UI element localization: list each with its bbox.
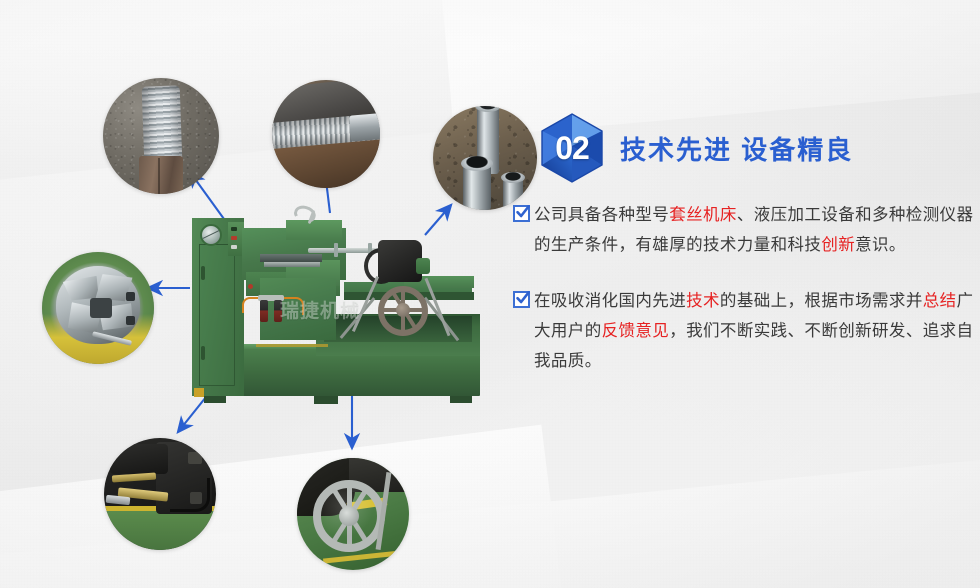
- image-watermark: 瑞捷机械: [280, 296, 388, 318]
- callout-handwheel-detail: [297, 458, 409, 570]
- promo-banner: 瑞捷机械: [0, 0, 980, 588]
- section-header: 02 技术先进 设备精良: [540, 113, 853, 183]
- bullet-text-2: 在吸收消化国内先进技术的基础上，根据市场需求并总结广大用户的反馈意见，我们不断实…: [534, 286, 975, 376]
- section-number-badge: 02: [540, 113, 604, 183]
- callout-hydraulic-valve-block: [104, 438, 216, 550]
- bullet-text-1: 公司具备各种型号套丝机床、液压加工设备和多种检测仪器的生产条件，有雄厚的技术力量…: [534, 200, 975, 260]
- bullet-item: 在吸收消化国内先进技术的基础上，根据市场需求并总结广大用户的反馈意见，我们不断实…: [513, 286, 975, 376]
- bullet-list: 公司具备各种型号套丝机床、液压加工设备和多种检测仪器的生产条件，有雄厚的技术力量…: [513, 200, 975, 402]
- bullet-item: 公司具备各种型号套丝机床、液压加工设备和多种检测仪器的生产条件，有雄厚的技术力量…: [513, 200, 975, 260]
- callout-threaded-rod-closeup: [103, 78, 219, 194]
- product-illustration-panel: 瑞捷机械: [0, 0, 520, 588]
- checkbox-checked-icon: [513, 291, 530, 308]
- callout-die-head-jaws: [42, 252, 154, 364]
- badge-number-label: 02: [540, 113, 604, 183]
- content-panel: 02 技术先进 设备精良 公司具备各种型号套丝机床、液压加工设备和多种检测仪器的…: [505, 0, 980, 588]
- callout-threaded-bar-detail: [272, 80, 380, 188]
- checkbox-checked-icon: [513, 205, 530, 222]
- product-machine-image: 瑞捷机械: [168, 196, 480, 412]
- section-title: 技术先进 设备精良: [620, 130, 853, 167]
